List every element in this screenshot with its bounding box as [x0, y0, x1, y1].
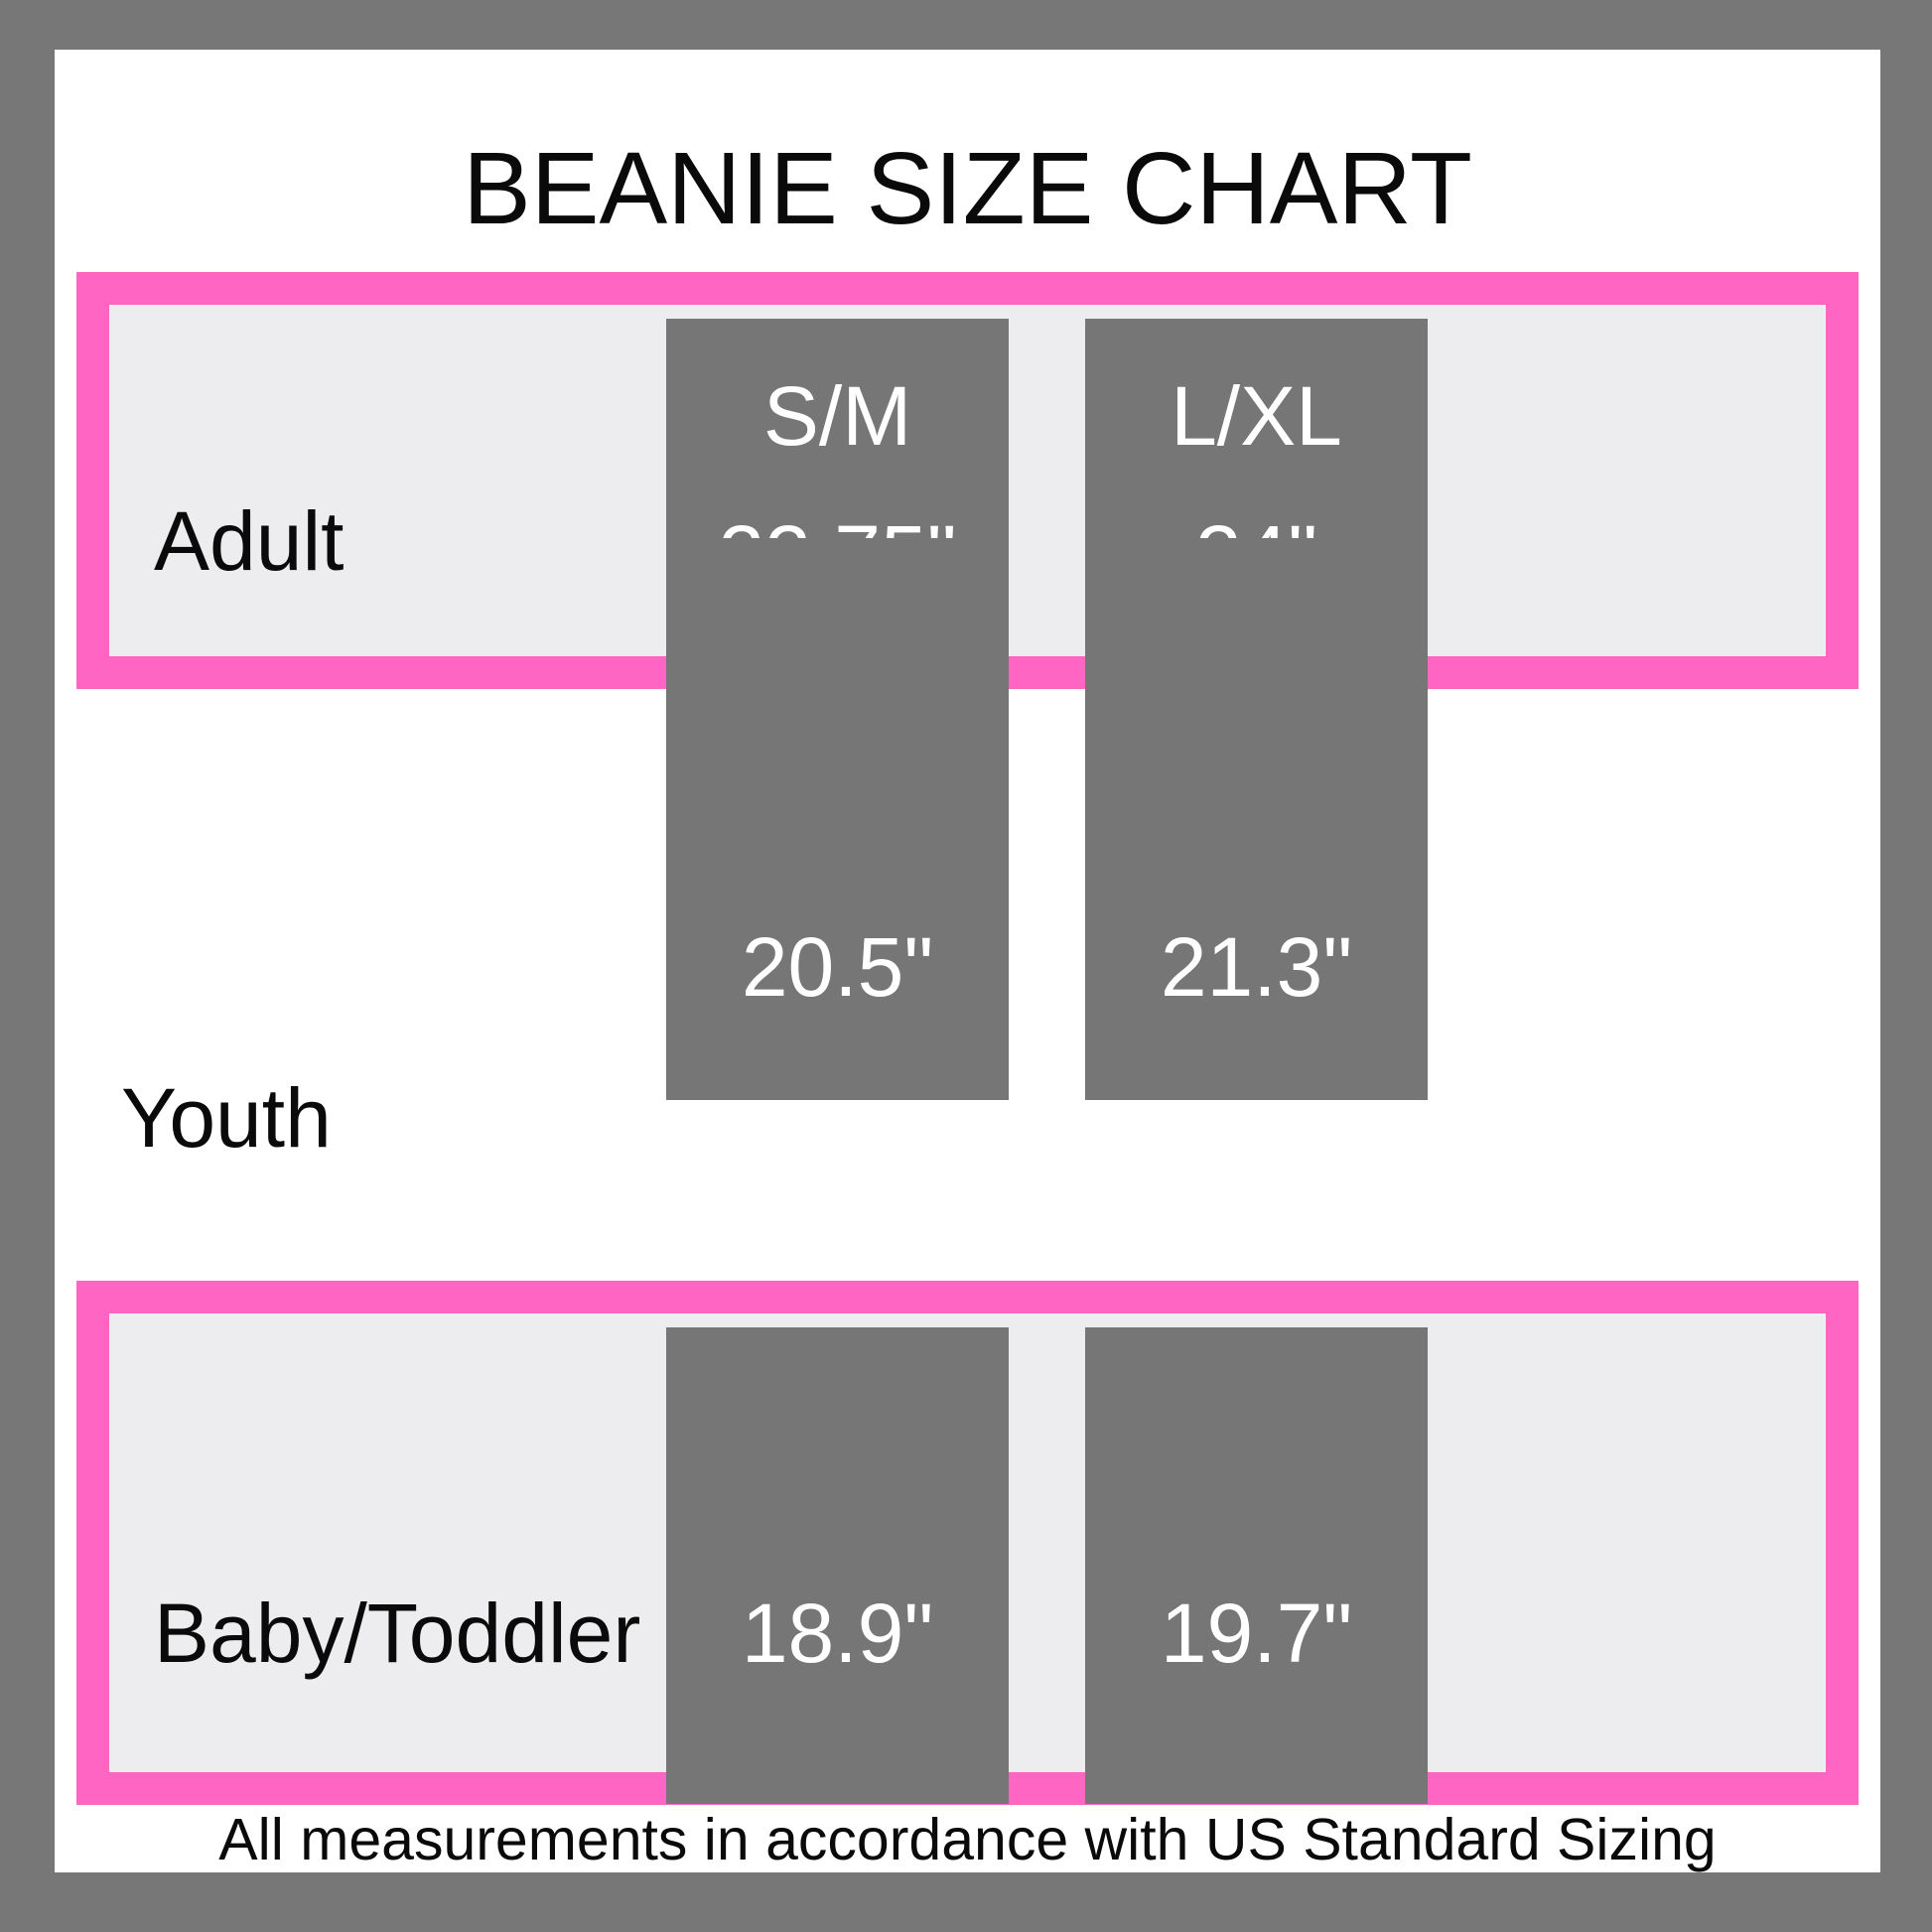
value-youth-lxl: 21.3": [1085, 925, 1428, 1009]
column-header-lxl: L/XL: [1085, 374, 1428, 458]
value-baby-sm: 18.9": [666, 1591, 1009, 1675]
value-baby-lxl: 19.7": [1085, 1591, 1428, 1675]
column-header-sm: S/M: [666, 374, 1009, 458]
page-title: BEANIE SIZE CHART: [55, 137, 1880, 239]
row-label-youth: Youth: [121, 1076, 332, 1160]
cell-youth-lxl: 21.3": [1085, 538, 1428, 1100]
cell-baby-sm: 18.9": [666, 1327, 1009, 1804]
cell-youth-sm: 20.5": [666, 538, 1009, 1100]
size-chart-table: Adult S/M 22.75" L/XL 24" Youth: [76, 272, 1859, 1805]
cell-baby-lxl: 19.7": [1085, 1327, 1428, 1804]
chart-card: BEANIE SIZE CHART Adult S/M 22.75" L/XL …: [55, 50, 1880, 1872]
table-row-youth[interactable]: Youth 20.5" 21.3": [76, 689, 1859, 1281]
row-label-adult: Adult: [154, 499, 344, 583]
footer-note: All measurements in accordance with US S…: [55, 1811, 1880, 1869]
value-youth-sm: 20.5": [666, 925, 1009, 1009]
table-row-baby-toddler[interactable]: Baby/Toddler 18.9" 19.7": [76, 1281, 1859, 1805]
row-label-baby-toddler: Baby/Toddler: [154, 1591, 640, 1675]
size-chart-page: BEANIE SIZE CHART Adult S/M 22.75" L/XL …: [0, 0, 1932, 1932]
